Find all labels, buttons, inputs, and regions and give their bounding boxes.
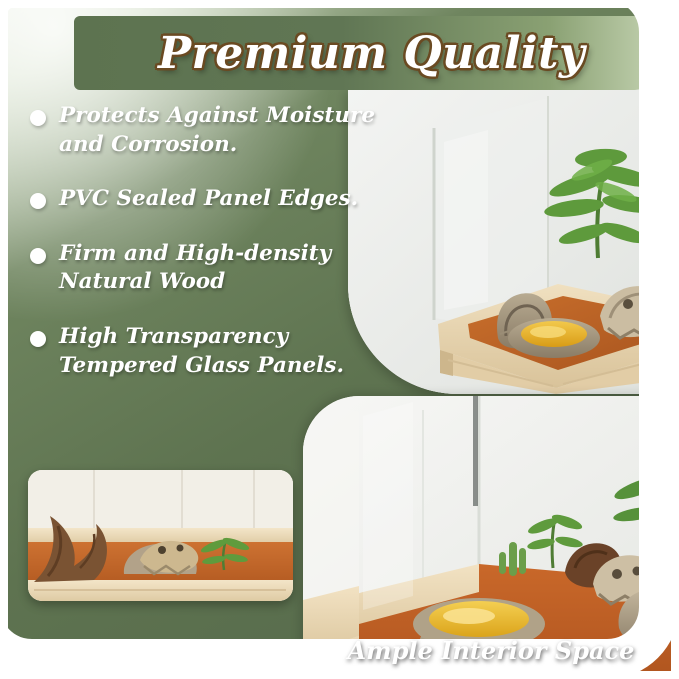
bullet-icon <box>30 110 46 126</box>
page-edge-right <box>671 0 679 679</box>
ample-interior-space-label: Ample Interior Space <box>303 636 679 665</box>
photo-terrarium-corner <box>348 88 679 394</box>
page-edge-top <box>0 0 679 8</box>
bullet-icon <box>30 193 46 209</box>
feature-label-pvc-edges: PVC Sealed Panel Edges. <box>59 185 358 214</box>
banner-title: Premium Quality <box>158 28 585 79</box>
feature-label-moisture: Protects Against Moisture and Corrosion. <box>59 102 380 159</box>
bullet-icon <box>30 331 46 347</box>
bullet-icon <box>30 248 46 264</box>
list-item: Firm and High-density Natural Wood <box>20 240 380 297</box>
page-edge-bottom <box>0 671 679 679</box>
premium-quality-banner: Premium Quality <box>74 16 669 90</box>
product-poster: Ample Interior Space <box>0 0 679 679</box>
page-edge-left <box>0 0 8 679</box>
list-item: PVC Sealed Panel Edges. <box>20 185 380 214</box>
feature-list: Protects Against Moisture and Corrosion.… <box>20 102 380 406</box>
terrarium-corner-illustration <box>348 88 679 394</box>
feature-label-natural-wood: Firm and High-density Natural Wood <box>59 240 380 297</box>
feature-label-tempered-glass: High Transparency Tempered Glass Panels. <box>59 323 380 380</box>
list-item: High Transparency Tempered Glass Panels. <box>20 323 380 380</box>
photo-driftwood-dragon <box>28 470 293 601</box>
driftwood-dragon-illustration <box>28 470 293 601</box>
list-item: Protects Against Moisture and Corrosion. <box>20 102 380 159</box>
